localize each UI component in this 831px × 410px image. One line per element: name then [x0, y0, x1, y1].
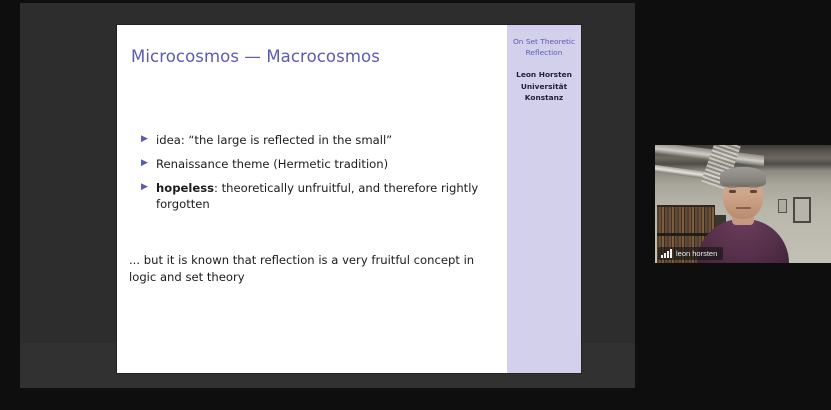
- bullet-item-renaissance: ▶ Renaissance theme (Hermetic tradition): [141, 156, 501, 172]
- bullet-item-hopeless-text: hopeless: theoretically unfruitful, and …: [156, 180, 501, 213]
- bullet-item-renaissance-text: Renaissance theme (Hermetic tradition): [156, 156, 501, 172]
- video-picture-frame: [793, 197, 811, 223]
- sidebar-talk-title: On Set Theoretic Reflection: [507, 37, 581, 58]
- video-person-eye-left: [729, 190, 736, 193]
- sidebar-institution-line-2: Konstanz: [510, 92, 578, 103]
- video-person-mouth: [736, 207, 751, 209]
- video-person-hair: [720, 167, 766, 187]
- sidebar-institution-line-1: Universität: [510, 81, 578, 92]
- slide-bullet-list: ▶ idea: “the large is reflected in the s…: [141, 132, 501, 220]
- bullet-triangle-icon: ▶: [141, 156, 156, 172]
- participant-video-tile[interactable]: leon horsten: [655, 145, 831, 263]
- shared-screen-stage[interactable]: Microcosmos — Macrocosmos ▶ idea: “the l…: [20, 3, 635, 388]
- bullet-triangle-icon: ▶: [141, 132, 156, 148]
- bullet-triangle-icon: ▶: [141, 180, 156, 196]
- sidebar-author-block: Leon Horsten Universität Konstanz: [507, 69, 581, 102]
- signal-strength-icon: [661, 250, 672, 258]
- presentation-slide[interactable]: Microcosmos — Macrocosmos ▶ idea: “the l…: [117, 25, 581, 373]
- participant-name-badge: leon horsten: [658, 247, 723, 260]
- video-picture-frame-small: [778, 199, 787, 213]
- sidebar-author-name: Leon Horsten: [510, 69, 578, 80]
- bullet-item-idea-text: idea: “the large is reflected in the sma…: [156, 132, 501, 148]
- slide-title: Microcosmos — Macrocosmos: [131, 47, 501, 66]
- slide-closing-paragraph: ... but it is known that reflection is a…: [129, 252, 497, 286]
- video-person-eye-right: [750, 190, 757, 193]
- participant-name-label: leon horsten: [676, 249, 717, 258]
- video-person-eyebrow-right: [749, 186, 758, 188]
- bullet-item-hopeless: ▶ hopeless: theoretically unfruitful, an…: [141, 180, 501, 213]
- slide-sidebar: On Set Theoretic Reflection Leon Horsten…: [507, 25, 581, 373]
- bullet-item-idea: ▶ idea: “the large is reflected in the s…: [141, 132, 501, 148]
- video-person-eyebrow-left: [728, 186, 737, 188]
- bullet-item-hopeless-lead: hopeless: [156, 181, 214, 195]
